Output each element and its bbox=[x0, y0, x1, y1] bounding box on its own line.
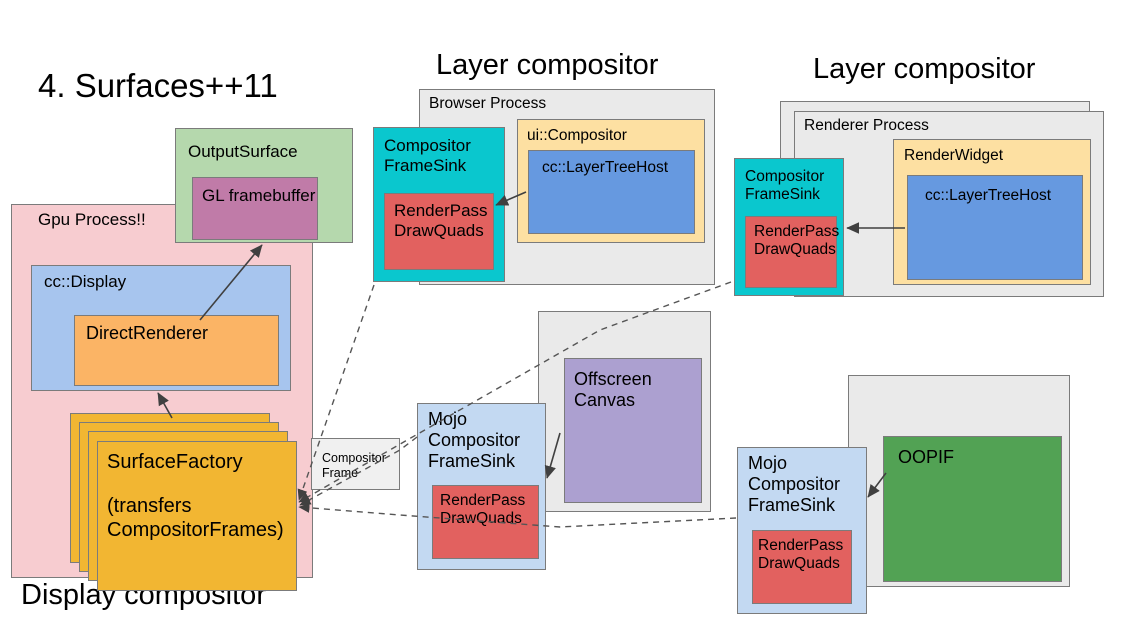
renderer-compositor-framesink-label: Compositor FrameSink bbox=[745, 168, 824, 205]
output-surface-label: OutputSurface bbox=[188, 142, 298, 162]
page-title: 4. Surfaces++11 bbox=[38, 68, 278, 104]
compositor-frame-tag-label: Compositor Frame bbox=[322, 451, 386, 481]
offscreen-mojo-renderpass-label: RenderPass DrawQuads bbox=[440, 492, 525, 529]
direct-renderer-label: DirectRenderer bbox=[86, 323, 208, 344]
diagram-canvas: 4. Surfaces++11 Layer compositor Layer c… bbox=[0, 0, 1125, 625]
renderer-process-label: Renderer Process bbox=[804, 117, 929, 135]
renderer-renderpass-label: RenderPass DrawQuads bbox=[754, 223, 839, 260]
ui-compositor-label: ui::Compositor bbox=[527, 127, 627, 145]
offscreen-mojo-framesink-label: Mojo Compositor FrameSink bbox=[428, 409, 520, 473]
gl-framebuffer-label: GL framebuffer bbox=[202, 186, 315, 206]
heading-layer-compositor-left: Layer compositor bbox=[436, 50, 658, 82]
offscreen-canvas-label: Offscreen Canvas bbox=[574, 369, 652, 411]
gpu-process-label: Gpu Process!! bbox=[38, 210, 146, 230]
oopif-mojo-framesink-label: Mojo Compositor FrameSink bbox=[748, 453, 840, 517]
surface-factory-label: SurfaceFactory bbox=[107, 451, 243, 475]
browser-layertreehost-label: cc::LayerTreeHost bbox=[542, 159, 668, 177]
oopif-label: OOPIF bbox=[898, 447, 954, 468]
browser-renderpass-label: RenderPass DrawQuads bbox=[394, 201, 488, 241]
heading-layer-compositor-right: Layer compositor bbox=[813, 54, 1035, 86]
cc-display-label: cc::Display bbox=[44, 272, 126, 292]
oopif-mojo-renderpass-label: RenderPass DrawQuads bbox=[758, 537, 843, 574]
render-widget-label: RenderWidget bbox=[904, 147, 1003, 165]
browser-process-label: Browser Process bbox=[429, 95, 546, 113]
renderer-layertreehost-label: cc::LayerTreeHost bbox=[925, 187, 1051, 205]
browser-compositor-framesink-label: Compositor FrameSink bbox=[384, 136, 471, 176]
surface-factory-sublabel: (transfers CompositorFrames) bbox=[107, 495, 284, 542]
